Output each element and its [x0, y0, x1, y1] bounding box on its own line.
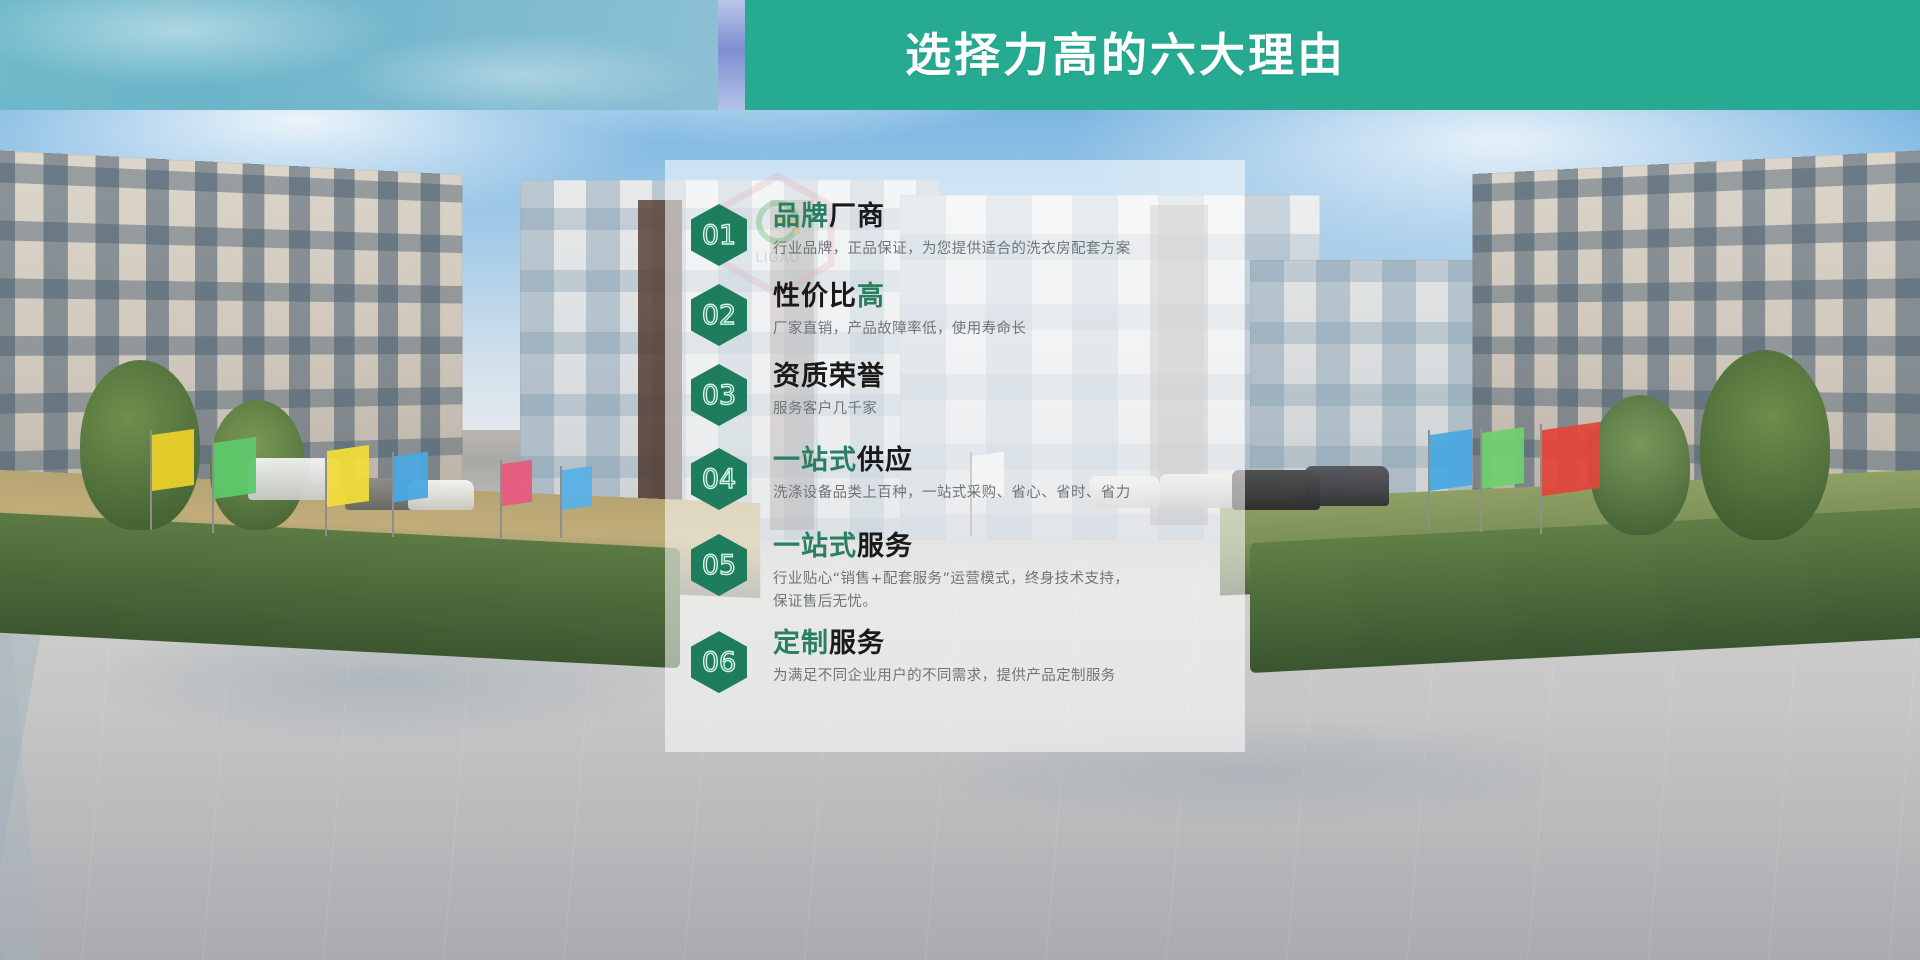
feature-body-02: 性价比高 厂家直销，产品故障率低，使用寿命长: [773, 282, 1245, 341]
feature-item-03[interactable]: 03 资质荣誉 服务客户几千家: [665, 362, 1245, 426]
feature-title-main-06: 服务: [829, 628, 885, 659]
hexagon-badge-icon-03: 03: [691, 364, 747, 426]
feature-number-06: 06: [702, 649, 736, 676]
feature-item-06[interactable]: 06 定制服务 为满足不同企业用户的不同需求，提供产品定制服务: [665, 629, 1245, 693]
feature-title-06: 定制服务: [773, 629, 1235, 659]
feature-number-01: 01: [702, 222, 736, 249]
feature-body-03: 资质荣誉 服务客户几千家: [773, 362, 1245, 421]
feature-desc-06: 为满足不同企业用户的不同需求，提供产品定制服务: [773, 665, 1235, 687]
features-list: 01 品牌厂商 行业品牌，正品保证，为您提供适合的洗衣房配套方案 02: [665, 202, 1245, 693]
flag-red-1: [1542, 422, 1600, 496]
hexagon-badge-icon-04: 04: [691, 448, 747, 510]
feature-item-05[interactable]: 05 一站式服务 行业贴心“销售+配套服务”运营模式，终身技术支持， 保证售后无…: [665, 532, 1245, 613]
flag-yellow-2: [327, 445, 369, 507]
feature-title-04: 一站式供应: [773, 446, 1235, 476]
badge-wrap-02: 02: [665, 282, 773, 346]
feature-desc-05: 行业贴心“销售+配套服务”运营模式，终身技术支持， 保证售后无忧。: [773, 568, 1235, 613]
flag-blue-1: [394, 452, 428, 503]
vehicle-7: [1305, 466, 1389, 506]
features-panel: LIGAO 01 品牌厂商 行业品牌，正品保证，为您提供适合的洗衣房配套方案: [665, 160, 1245, 752]
feature-title-accent-02: 高: [857, 281, 885, 312]
feature-body-05: 一站式服务 行业贴心“销售+配套服务”运营模式，终身技术支持， 保证售后无忧。: [773, 532, 1245, 613]
hexagon-badge-icon-01: 01: [691, 204, 747, 266]
feature-number-05: 05: [702, 552, 736, 579]
feature-item-02[interactable]: 02 性价比高 厂家直销，产品故障率低，使用寿命长: [665, 282, 1245, 346]
tree-right-2: [1590, 395, 1690, 535]
feature-title-accent-05: 一站式: [773, 531, 857, 562]
feature-title-03: 资质荣誉: [773, 362, 1235, 392]
feature-title-accent-04: 一站式: [773, 445, 857, 476]
badge-wrap-06: 06: [665, 629, 773, 693]
flag-pink-1: [502, 460, 532, 506]
feature-body-06: 定制服务 为满足不同企业用户的不同需求，提供产品定制服务: [773, 629, 1245, 688]
badge-wrap-03: 03: [665, 362, 773, 426]
feature-desc-03: 服务客户几千家: [773, 398, 1235, 420]
feature-title-02: 性价比高: [773, 282, 1235, 312]
feature-title-main-04: 供应: [857, 445, 913, 476]
feature-title-accent-06: 定制: [773, 628, 829, 659]
feature-item-04[interactable]: 04 一站式供应 洗涤设备品类上百种，一站式采购、省心、省时、省力: [665, 446, 1245, 510]
flag-green-2: [1482, 427, 1524, 489]
feature-title-main-02: 性价比: [773, 281, 857, 312]
feature-number-04: 04: [702, 466, 736, 493]
feature-desc-04: 洗涤设备品类上百种，一站式采购、省心、省时、省力: [773, 482, 1235, 504]
feature-title-main-03: 资质荣誉: [773, 361, 885, 392]
feature-number-03: 03: [702, 382, 736, 409]
feature-title-01: 品牌厂商: [773, 202, 1235, 232]
feature-title-main-01: 厂商: [829, 201, 885, 232]
hexagon-badge-icon-06: 06: [691, 631, 747, 693]
badge-wrap-01: 01: [665, 202, 773, 266]
feature-item-01[interactable]: 01 品牌厂商 行业品牌，正品保证，为您提供适合的洗衣房配套方案: [665, 202, 1245, 266]
tree-right-1: [1700, 350, 1830, 540]
feature-title-accent-01: 品牌: [773, 201, 829, 232]
flag-green-1: [214, 437, 256, 499]
header-banner: 选择力高的六大理由: [0, 0, 1920, 110]
feature-title-main-05: 服务: [857, 531, 913, 562]
flag-blue-2: [562, 466, 592, 510]
feature-body-04: 一站式供应 洗涤设备品类上百种，一站式采购、省心、省时、省力: [773, 446, 1245, 505]
feature-desc-01: 行业品牌，正品保证，为您提供适合的洗衣房配套方案: [773, 238, 1235, 260]
hexagon-badge-icon-02: 02: [691, 284, 747, 346]
flag-blue-3: [1430, 429, 1472, 491]
feature-desc-02: 厂家直销，产品故障率低，使用寿命长: [773, 318, 1235, 340]
feature-number-02: 02: [702, 302, 736, 329]
header-green-band: 选择力高的六大理由: [745, 0, 1920, 110]
page-canvas: 选择力高的六大理由 LIGAO 01 品牌厂商: [0, 0, 1920, 960]
header-photo-left: [0, 0, 718, 110]
flag-yellow-1: [152, 429, 194, 491]
header-accent-strip: [718, 0, 745, 110]
feature-title-05: 一站式服务: [773, 532, 1235, 562]
hexagon-badge-icon-05: 05: [691, 534, 747, 596]
page-title: 选择力高的六大理由: [905, 32, 1346, 78]
feature-body-01: 品牌厂商 行业品牌，正品保证，为您提供适合的洗衣房配套方案: [773, 202, 1245, 261]
badge-wrap-04: 04: [665, 446, 773, 510]
badge-wrap-05: 05: [665, 532, 773, 596]
